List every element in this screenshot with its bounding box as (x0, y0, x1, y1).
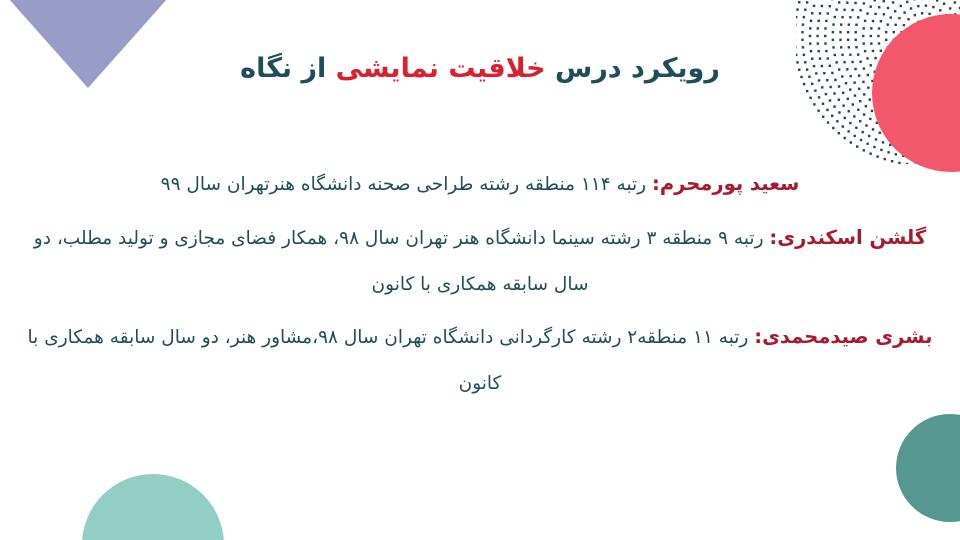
title-segment-accent: خلاقیت نمایشی (336, 53, 546, 84)
mint-circle-decoration (82, 474, 224, 540)
entry-item: بشری صیدمحمدی: رتبه ۱۱ منطقه۲ رشته کارگر… (14, 313, 946, 406)
teal-circle-decoration (896, 414, 960, 522)
entry-name: گلشن اسکندری: (769, 226, 926, 249)
title-segment-suffix: از نگاه (240, 53, 336, 84)
entry-description: رتبه ۹ منطقه ۳ رشته سینما دانشگاه هنر ته… (34, 228, 770, 295)
title-segment-prefix: رویکرد درس (546, 53, 720, 84)
slide-title: رویکرد درس خلاقیت نمایشی از نگاه (0, 52, 960, 86)
entry-item: سعید پورمحرم: رتبه ۱۱۴ منطقه رشته طراحی … (14, 160, 946, 208)
entry-name: بشری صیدمحمدی: (754, 325, 932, 348)
entry-list: سعید پورمحرم: رتبه ۱۱۴ منطقه رشته طراحی … (14, 160, 946, 406)
entry-item: گلشن اسکندری: رتبه ۹ منطقه ۳ رشته سینما … (14, 214, 946, 307)
entry-name: سعید پورمحرم: (652, 172, 799, 195)
entry-description: رتبه ۱۱۴ منطقه رشته طراحی صحنه دانشگاه ه… (161, 174, 652, 195)
entry-description: رتبه ۱۱ منطقه۲ رشته کارگردانی دانشگاه ته… (28, 327, 755, 394)
slide-canvas: رویکرد درس خلاقیت نمایشی از نگاه سعید پو… (0, 0, 960, 540)
